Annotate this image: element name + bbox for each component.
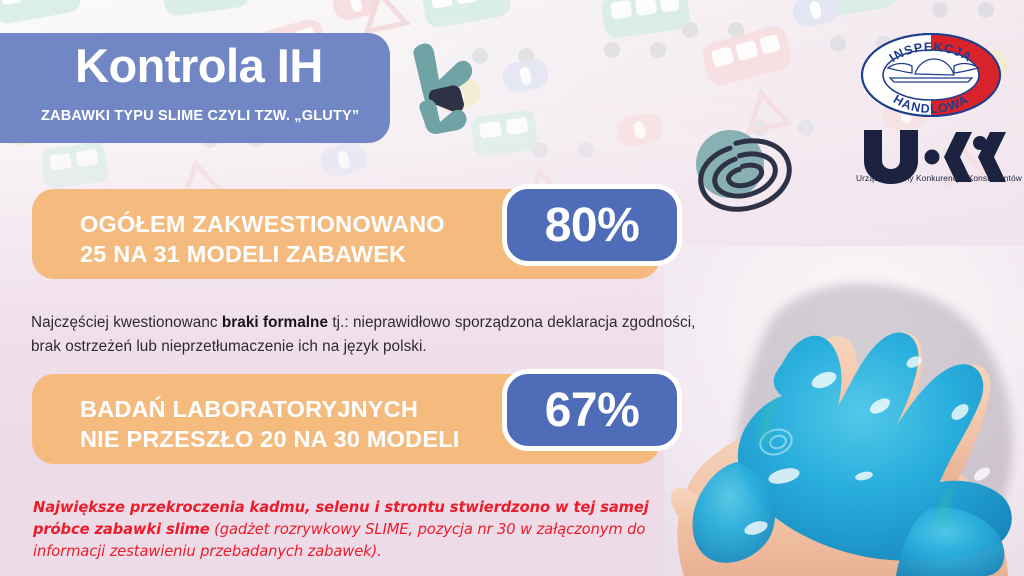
stat-label-line1: OGÓŁEM ZAKWESTIONOWANO: [80, 209, 445, 239]
spiral-decoration: [682, 122, 808, 233]
note-paragraph: Najczęściej kwestionowanc braki formalne…: [31, 311, 721, 358]
hand-with-blue-slime-photo: [664, 246, 1024, 576]
infographic-poster: Kontrola IH ZABAWKI TYPU SLIME CZYLI TZW…: [0, 0, 1024, 576]
note-text-bold: braki formalne: [222, 314, 328, 331]
stat-percent-badge: 80%: [502, 184, 682, 266]
stat-row-lab-tests-failed: BADAŃ LABORATORYJNYCH NIE PRZESZŁO 20 NA…: [32, 374, 660, 464]
stat-row-overall-questioned: OGÓŁEM ZAKWESTIONOWANO 25 NA 31 MODELI Z…: [32, 189, 660, 279]
page-subtitle: ZABAWKI TYPU SLIME CZYLI TZW. „GLUTY”: [41, 108, 359, 124]
uokik-logo-subtitle: Urząd Ochrony Konkurencji i Konsumentów: [856, 173, 1008, 183]
stat-label-line2: NIE PRZESZŁO 20 NA 30 MODELI: [80, 424, 460, 454]
chevron-decoration-group: [408, 42, 488, 139]
stat-label-line1: BADAŃ LABORATORYJNYCH: [80, 394, 460, 424]
note-text-before: Najczęściej kwestionowanc: [31, 314, 222, 331]
page-title: Kontrola IH: [75, 42, 323, 89]
inspekcja-handlowa-logo: INSPEKCJA HANDLOWA: [860, 32, 1002, 118]
stat-label: OGÓŁEM ZAKWESTIONOWANO 25 NA 31 MODELI Z…: [80, 209, 445, 269]
stat-label: BADAŃ LABORATORYJNYCH NIE PRZESZŁO 20 NA…: [80, 394, 460, 454]
stat-percent-badge: 67%: [502, 369, 682, 451]
footnote-paragraph: Największe przekroczenia kadmu, selenu i…: [33, 497, 673, 563]
stat-label-line2: 25 NA 31 MODELI ZABAWEK: [80, 239, 445, 269]
